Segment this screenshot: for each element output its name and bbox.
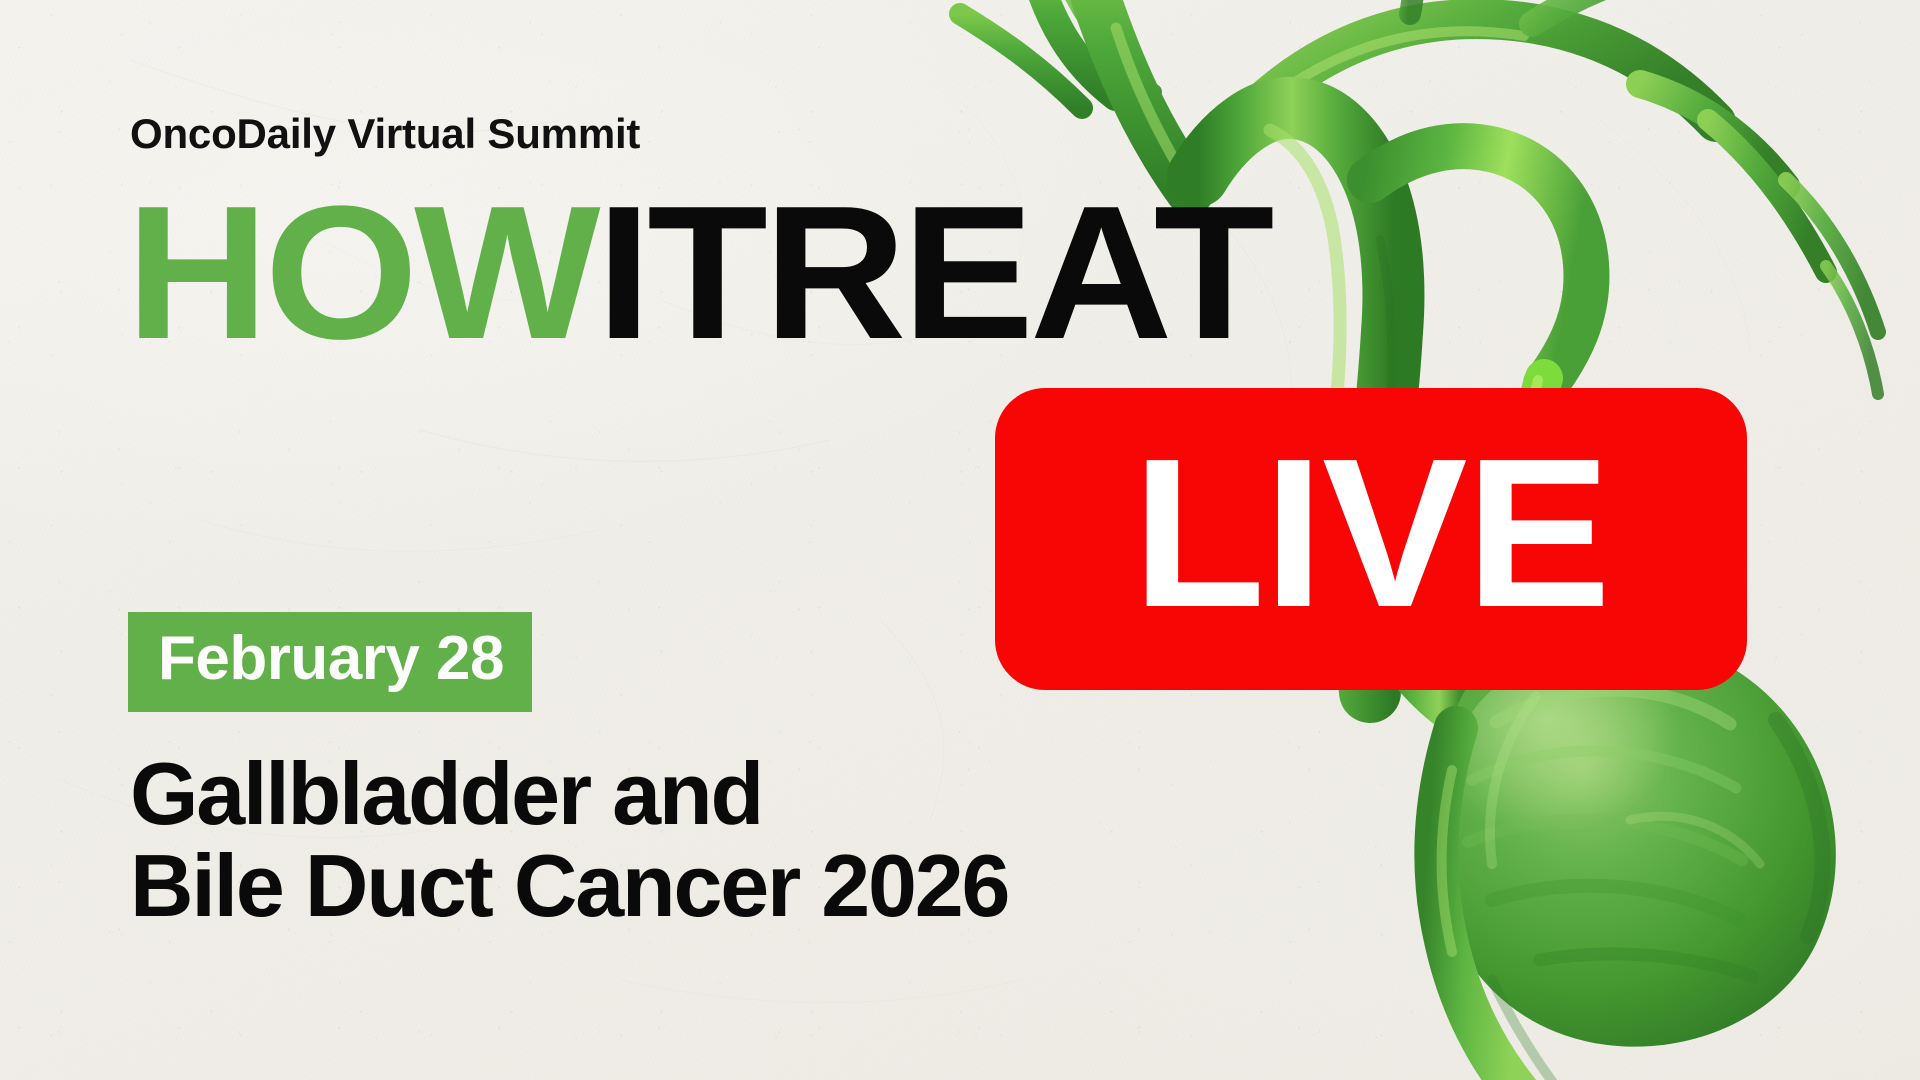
- promo-banner: OncoDaily Virtual Summit HOWITREAT LIVE …: [0, 0, 1920, 1080]
- kicker-text: OncoDaily Virtual Summit: [130, 110, 640, 158]
- topic-line-2: Bile Duct Cancer 2026: [130, 840, 1008, 932]
- date-badge-label: February 28: [158, 628, 504, 690]
- live-badge: LIVE: [995, 388, 1747, 690]
- wordmark-segment-itreat: ITREAT: [596, 167, 1270, 379]
- duct-trunk-highlight: [1270, 130, 1340, 404]
- wordmark-segment-how: HOW: [126, 167, 596, 379]
- topic-line-1: Gallbladder and: [130, 748, 1008, 840]
- wordmark: HOWITREAT: [126, 178, 1270, 368]
- live-badge-label: LIVE: [1132, 427, 1609, 639]
- topic-title: Gallbladder and Bile Duct Cancer 2026: [130, 748, 1008, 931]
- date-badge: February 28: [128, 612, 532, 712]
